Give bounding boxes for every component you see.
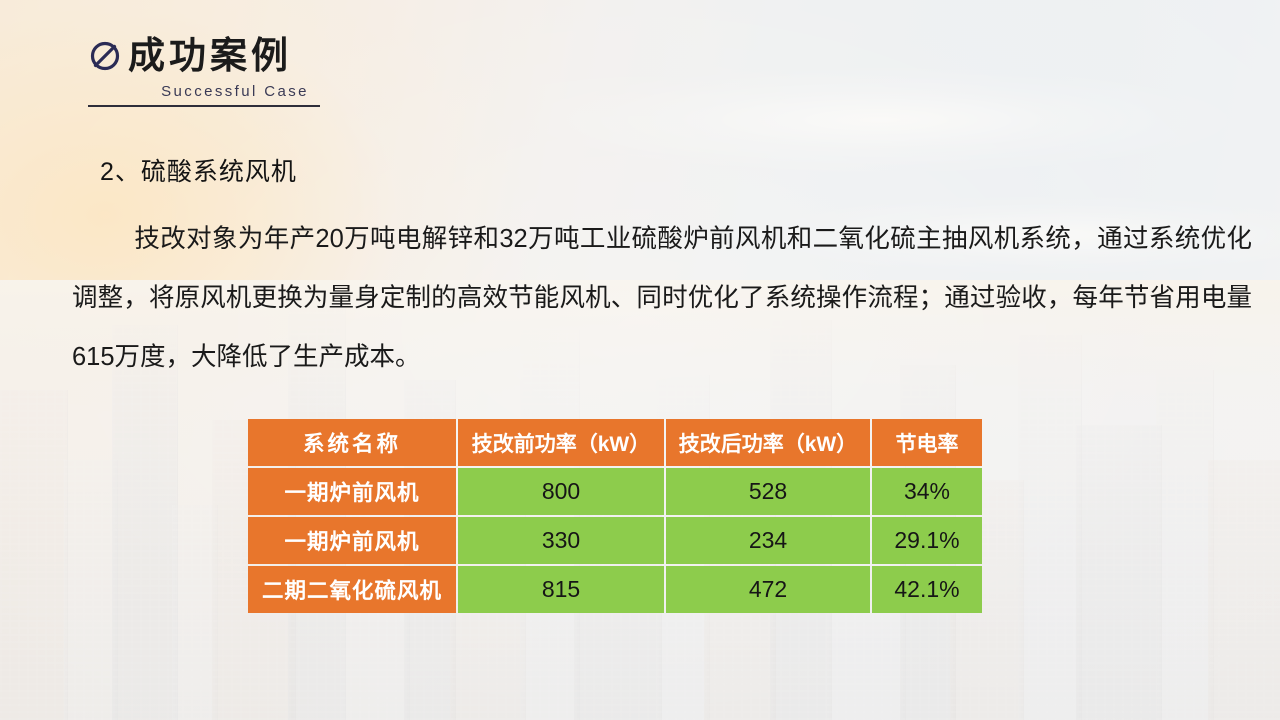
results-table: 系统名称 技改前功率（kW） 技改后功率（kW） 节电率 一期炉前风机 800 … xyxy=(246,417,984,615)
paragraph-text: 技改对象为年产20万吨电解锌和32万吨工业硫酸炉前风机和二氧化硫主抽风机系统，通… xyxy=(72,225,1252,371)
column-header-system-name: 系统名称 xyxy=(248,419,456,466)
title-block: 成功案例 Successful Case xyxy=(88,36,388,107)
table-header: 系统名称 技改前功率（kW） 技改后功率（kW） 节电率 xyxy=(248,419,982,466)
cell-power-after: 528 xyxy=(666,468,870,515)
section-heading: 2、硫酸系统风机 xyxy=(100,152,297,188)
column-header-power-before: 技改前功率（kW） xyxy=(458,419,664,466)
page-subtitle: Successful Case xyxy=(88,83,388,100)
title-underline-rule xyxy=(88,105,320,107)
title-row: 成功案例 xyxy=(88,36,388,77)
table-header-row: 系统名称 技改前功率（kW） 技改后功率（kW） 节电率 xyxy=(248,419,982,466)
column-header-power-after: 技改后功率（kW） xyxy=(666,419,870,466)
table-row: 一期炉前风机 800 528 34% xyxy=(248,468,982,515)
slide-canvas: 成功案例 Successful Case 2、硫酸系统风机 技改对象为年产20万… xyxy=(0,0,1280,720)
cell-system-name: 二期二氧化硫风机 xyxy=(248,566,456,613)
cell-power-before: 815 xyxy=(458,566,664,613)
cell-power-before: 330 xyxy=(458,517,664,564)
table-body: 一期炉前风机 800 528 34% 一期炉前风机 330 234 29.1% … xyxy=(248,468,982,613)
cell-saving-rate: 42.1% xyxy=(872,566,982,613)
cell-power-before: 800 xyxy=(458,468,664,515)
column-header-saving-rate: 节电率 xyxy=(872,419,982,466)
body-paragraph: 技改对象为年产20万吨电解锌和32万吨工业硫酸炉前风机和二氧化硫主抽风机系统，通… xyxy=(72,210,1252,387)
table-row: 二期二氧化硫风机 815 472 42.1% xyxy=(248,566,982,613)
cell-system-name: 一期炉前风机 xyxy=(248,468,456,515)
cell-saving-rate: 29.1% xyxy=(872,517,982,564)
table-row: 一期炉前风机 330 234 29.1% xyxy=(248,517,982,564)
slide-content: 成功案例 Successful Case 2、硫酸系统风机 技改对象为年产20万… xyxy=(0,0,1280,720)
cell-power-after: 472 xyxy=(666,566,870,613)
cell-saving-rate: 34% xyxy=(872,468,982,515)
cell-system-name: 一期炉前风机 xyxy=(248,517,456,564)
cell-power-after: 234 xyxy=(666,517,870,564)
null-slash-icon xyxy=(88,39,122,73)
page-title: 成功案例 xyxy=(128,36,292,77)
